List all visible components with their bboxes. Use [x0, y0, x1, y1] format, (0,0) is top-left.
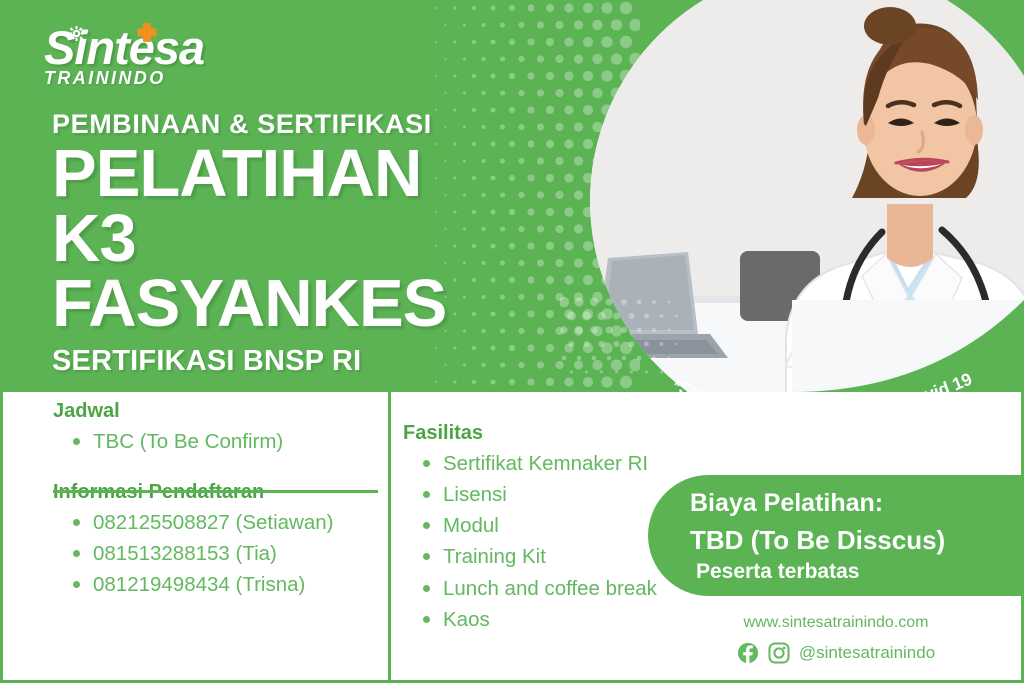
- contact-item: 081219498434 (Trisna): [71, 569, 378, 600]
- headline-line-3: FASYANKES: [52, 272, 446, 336]
- facebook-icon[interactable]: [737, 642, 759, 664]
- facilities-title: Fasilitas: [403, 422, 683, 445]
- headline-kicker: PEMBINAAN & SERTIFIKASI: [52, 110, 446, 138]
- column-divider-vertical: [388, 392, 391, 680]
- facility-item: Training Kit: [421, 541, 683, 572]
- schedule-item: TBC (To Be Confirm): [71, 426, 378, 457]
- logo-wordmark: Sintesa: [44, 24, 204, 71]
- facilities-list: Sertifikat Kemnaker RILisensiModulTraini…: [421, 448, 683, 635]
- registration-contact-list: 082125508827 (Setiawan)081513288153 (Tia…: [71, 507, 378, 600]
- price-note: Peserta terbatas: [696, 560, 859, 584]
- facility-item: Lunch and coffee break: [421, 573, 683, 604]
- instagram-icon[interactable]: [768, 642, 790, 664]
- gear-icon: [69, 26, 84, 41]
- contact-item: 082125508827 (Setiawan): [71, 507, 378, 538]
- schedule-title: Jadwal: [53, 400, 378, 423]
- website-url[interactable]: www.sintesatrainindo.com: [648, 614, 1024, 632]
- price-label: Biaya Pelatihan:: [690, 489, 883, 518]
- social-handle[interactable]: @sintesatrainindo: [799, 643, 935, 663]
- facility-item: Kaos: [421, 604, 683, 635]
- poster-canvas: Sintesa: [0, 0, 1024, 683]
- price-panel: Biaya Pelatihan: TBD (To Be Disscus) Pes…: [648, 475, 1024, 596]
- facility-item: Modul: [421, 510, 683, 541]
- social-links: @sintesatrainindo: [648, 642, 1024, 664]
- headline-footer: SERTIFIKASI BNSP RI: [52, 345, 446, 378]
- contact-item: 081513288153 (Tia): [71, 538, 378, 569]
- photo-lower-filler: [792, 300, 1024, 392]
- facility-item: Sertifikat Kemnaker RI: [421, 448, 683, 479]
- medical-cross-icon: [136, 22, 158, 44]
- headline-line-1: PELATIHAN: [52, 142, 446, 206]
- left-column: Jadwal TBC (To Be Confirm) Informasi Pen…: [53, 400, 378, 601]
- brand-logo: Sintesa: [44, 24, 204, 89]
- schedule-list: TBC (To Be Confirm): [71, 426, 378, 457]
- headline-block: PEMBINAAN & SERTIFIKASI PELATIHAN K3 FAS…: [52, 110, 446, 378]
- price-value: TBD (To Be Disscus): [690, 525, 945, 556]
- facilities-column: Fasilitas Sertifikat Kemnaker RILisensiM…: [403, 422, 683, 635]
- headline-line-2: K3: [52, 207, 446, 271]
- column-divider-horizontal: [53, 490, 378, 493]
- facility-item: Lisensi: [421, 479, 683, 510]
